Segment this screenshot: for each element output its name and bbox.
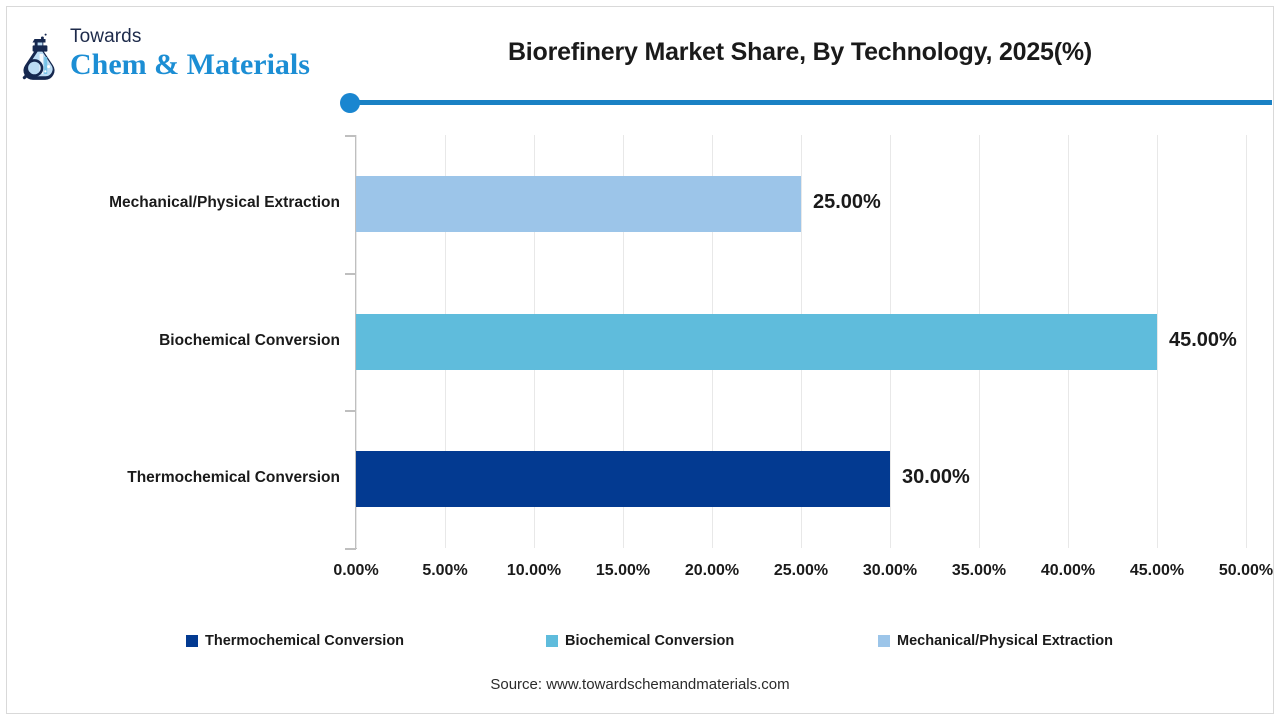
bar-value-label: 30.00% [902,466,970,489]
y-axis-category-label: Biochemical Conversion [10,332,340,350]
source-note: Source: www.towardschemandmaterials.com [0,676,1280,693]
legend-item[interactable]: Biochemical Conversion [546,633,734,649]
legend-label: Thermochemical Conversion [205,633,404,649]
brand-line-towards: Towards [70,26,310,48]
legend-label: Mechanical/Physical Extraction [897,633,1113,649]
header-divider-line [352,100,1272,105]
legend-item[interactable]: Mechanical/Physical Extraction [878,633,1113,649]
y-axis-category-label: Mechanical/Physical Extraction [10,194,340,212]
chart-legend: Thermochemical ConversionBiochemical Con… [186,633,1146,653]
y-axis-tick [345,548,356,550]
chart-plot-area [356,135,1246,548]
legend-swatch-icon [878,635,890,647]
y-axis-tick [345,410,356,412]
bar[interactable] [356,314,1157,370]
bar[interactable] [356,176,801,232]
gridline-vertical [1157,135,1158,548]
brand-line-chem-materials: Chem & Materials [70,48,310,82]
legend-label: Biochemical Conversion [565,633,734,649]
y-axis-tick [345,273,356,275]
legend-swatch-icon [546,635,558,647]
legend-swatch-icon [186,635,198,647]
x-axis-tick-label: 50.00% [1191,562,1280,580]
gridline-vertical [1246,135,1247,548]
legend-item[interactable]: Thermochemical Conversion [186,633,404,649]
bar[interactable] [356,451,890,507]
brand-wordmark: Towards Chem & Materials [70,26,310,82]
chart-title: Biorefinery Market Share, By Technology,… [360,38,1240,67]
bar-value-label: 45.00% [1169,329,1237,352]
y-axis-category-label: Thermochemical Conversion [10,469,340,487]
brand-logo: Towards Chem & Materials [14,26,344,88]
bar-value-label: 25.00% [813,191,881,214]
header-divider-dot [340,93,360,113]
y-axis-tick [345,135,356,137]
flask-icon [14,30,66,82]
